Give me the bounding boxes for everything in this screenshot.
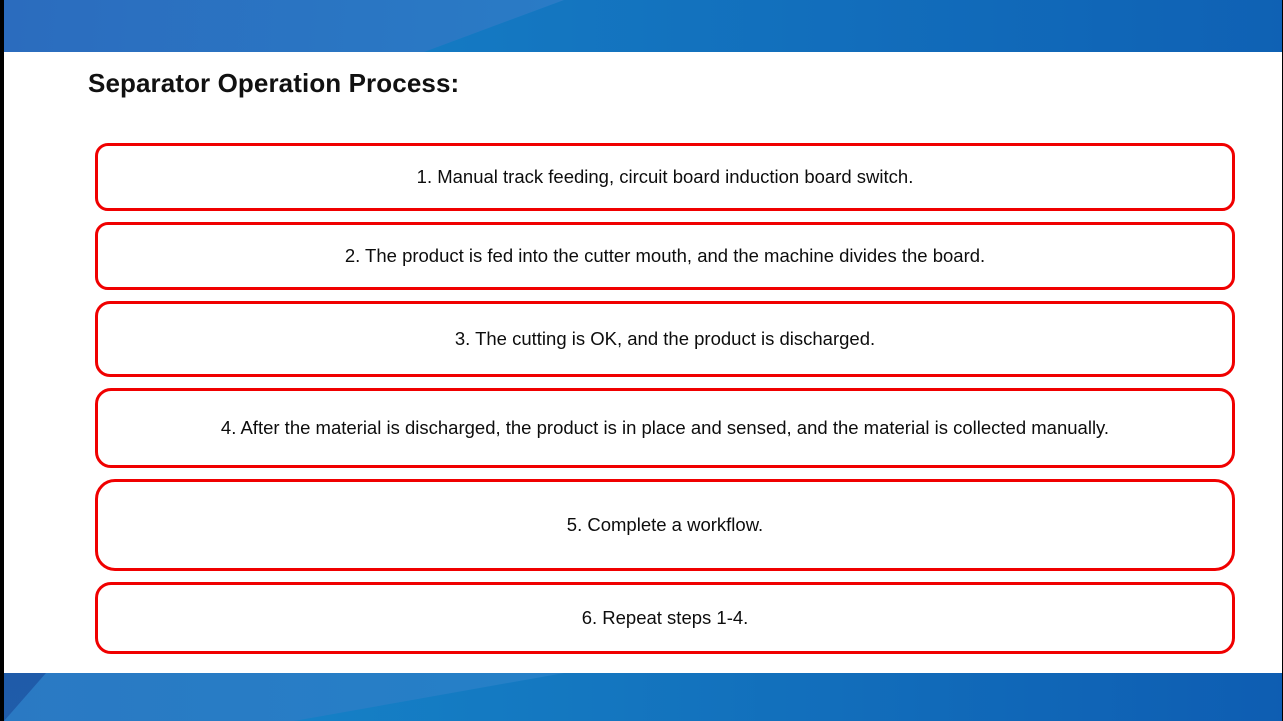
process-step-label: 5. Complete a workflow.	[553, 513, 777, 536]
process-step-box[interactable]: 2. The product is fed into the cutter mo…	[95, 222, 1235, 290]
process-step-label: 3. The cutting is OK, and the product is…	[441, 327, 889, 350]
process-step-label: 6. Repeat steps 1-4.	[568, 606, 763, 629]
top-decorative-banner	[4, 0, 1283, 52]
process-step-label: 4. After the material is discharged, the…	[207, 416, 1123, 439]
process-step-box[interactable]: 3. The cutting is OK, and the product is…	[95, 301, 1235, 377]
process-step-label: 1. Manual track feeding, circuit board i…	[403, 165, 928, 188]
process-step-box[interactable]: 4. After the material is discharged, the…	[95, 388, 1235, 468]
page-title: Separator Operation Process:	[88, 68, 459, 99]
bottom-decorative-banner	[4, 673, 1283, 721]
process-step-box[interactable]: 1. Manual track feeding, circuit board i…	[95, 143, 1235, 211]
slide-canvas: Separator Operation Process: 1. Manual t…	[0, 0, 1283, 721]
process-step-box[interactable]: 6. Repeat steps 1-4.	[95, 582, 1235, 654]
process-step-box[interactable]: 5. Complete a workflow.	[95, 479, 1235, 571]
process-step-label: 2. The product is fed into the cutter mo…	[331, 244, 999, 267]
process-step-list: 1. Manual track feeding, circuit board i…	[95, 143, 1235, 665]
